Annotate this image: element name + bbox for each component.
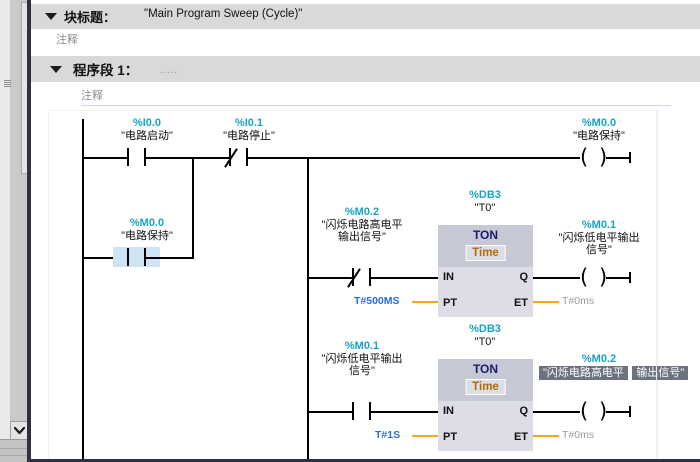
timer2-pt-value[interactable]: T#1S: [375, 429, 400, 441]
symbol-m02-line1: "闪烁电路高电平: [302, 219, 422, 232]
timer1-pin-et: ET: [514, 297, 528, 309]
address-coil-m02: %M0.2: [539, 353, 659, 366]
rung1-branch-wire-right: [146, 257, 193, 259]
rung1-wire-left: [82, 157, 127, 159]
rung3-wire-left: [307, 411, 352, 413]
address-db3-timer1: %DB3: [426, 189, 544, 202]
timer1-pt-value[interactable]: T#500MS: [354, 295, 400, 307]
address-coil-m00: %M0.0: [539, 117, 659, 130]
rung3-wire-q-out: [533, 411, 580, 413]
timer1-datatype: Time: [465, 245, 506, 261]
label-contact-seal-m00: %M0.0 "电路保持": [87, 217, 207, 242]
rung3-end-cap: [629, 406, 631, 417]
timer1-pin-in: IN: [443, 271, 454, 283]
address-db3-timer2: %DB3: [426, 323, 544, 336]
symbol-m01-line2: 信号": [302, 365, 422, 378]
left-chrome: [0, 0, 27, 462]
block-comment[interactable]: 注释: [56, 31, 78, 47]
timer-block-ton-2[interactable]: TON Time IN PT Q ET: [438, 359, 533, 451]
name-t0-timer1: "T0": [426, 202, 544, 215]
timer1-pin-q: Q: [519, 271, 528, 283]
timer-branch-rail: [307, 157, 309, 461]
label-coil-m01: %M0.1 "闪烁低电平输出 信号": [539, 219, 659, 257]
splitter-grip-icon[interactable]: [4, 80, 11, 87]
rung2-wire-to-timer: [371, 277, 438, 279]
symbol-seal-m00: "电路保持": [87, 230, 207, 243]
address-m02: %M0.2: [302, 206, 422, 219]
timer2-header: TON Time: [438, 359, 533, 401]
timer2-et-value: T#0ms: [562, 429, 594, 441]
label-coil-m02-selected[interactable]: %M0.2 "闪烁电路高电平 输出信号": [539, 353, 659, 380]
timer2-pin-in: IN: [443, 405, 454, 417]
rung3-wire-coil-out: [606, 411, 630, 413]
network-panel: 块标题： "Main Program Sweep (Cycle)" 注释 程序段…: [31, 0, 700, 462]
label-timer2-db: %DB3 "T0": [426, 323, 544, 348]
timer1-et-wire: [533, 301, 559, 303]
rung2-wire-coil-out: [606, 277, 630, 279]
ladder-canvas[interactable]: %I0.0 "电路启动" %I0.1 "电路停止" () %M0.0 "电路保持…: [48, 110, 658, 462]
name-t0-timer2: "T0": [426, 336, 544, 349]
rung2-wire-left: [307, 277, 352, 279]
timer2-pin-pt: PT: [443, 431, 457, 443]
timer1-et-value: T#0ms: [562, 295, 594, 307]
timer1-pin-pt: PT: [443, 297, 457, 309]
block-title-header[interactable]: [31, 4, 700, 29]
timer2-et-wire: [533, 435, 559, 437]
network-title-dots: .....: [160, 64, 178, 76]
timer1-header: TON Time: [438, 225, 533, 267]
address-coil-m01: %M0.1: [539, 219, 659, 232]
rung1-wire-right: [248, 157, 580, 159]
timer-block-ton-1[interactable]: TON Time IN PT Q ET: [438, 225, 533, 317]
symbol-coil-m02-line1: "闪烁电路高电平: [539, 366, 628, 381]
symbol-coil-m01-line1: "闪烁低电平输出: [539, 232, 659, 245]
block-title-label: 块标题：: [64, 7, 116, 26]
symbol-coil-m02-line2: 输出信号": [632, 366, 688, 381]
rung3-wire-to-timer: [371, 411, 438, 413]
label-coil-m00: %M0.0 "电路保持": [539, 117, 659, 142]
timer2-pin-et: ET: [514, 431, 528, 443]
symbol-i01: "电路停止": [189, 130, 309, 143]
network-comment-divider: [81, 105, 671, 106]
left-chrome-footer: [0, 439, 27, 462]
chevron-down-icon: [13, 425, 26, 436]
left-power-rail: [82, 119, 84, 461]
block-title-expander-icon[interactable]: [45, 13, 57, 20]
label-contact-stop-i01: %I0.1 "电路停止": [189, 117, 309, 142]
network-expander-icon[interactable]: [50, 66, 62, 73]
symbol-coil-m00: "电路保持": [539, 130, 659, 143]
timer1-pt-wire: [412, 301, 438, 303]
canvas-right-separator: [656, 110, 657, 462]
address-i01: %I0.1: [189, 117, 309, 130]
timer2-pin-q: Q: [519, 405, 528, 417]
block-title-value: "Main Program Sweep (Cycle)": [144, 8, 302, 20]
rung1-wire-mid: [146, 157, 229, 159]
network-comment[interactable]: 注释: [81, 87, 103, 103]
vertical-scrollbar-track[interactable]: [10, 0, 27, 430]
timer1-body: IN PT Q ET: [438, 267, 533, 317]
label-timer1-db: %DB3 "T0": [426, 189, 544, 214]
timer2-datatype: Time: [465, 379, 506, 395]
rung1-end-cap: [629, 152, 631, 163]
symbol-m01-line1: "闪烁低电平输出: [302, 353, 422, 366]
address-m01: %M0.1: [302, 340, 422, 353]
rung2-wire-q-out: [533, 277, 580, 279]
timer2-instruction: TON: [438, 362, 533, 376]
label-contact-m01: %M0.1 "闪烁低电平输出 信号": [302, 340, 422, 378]
label-contact-m02: %M0.2 "闪烁电路高电平 输出信号": [302, 206, 422, 244]
symbol-m02-line2: 输出信号": [302, 231, 422, 244]
address-seal-m00: %M0.0: [87, 217, 207, 230]
rung1-branch-vert-right: [192, 157, 194, 259]
rung2-end-cap: [629, 272, 631, 283]
symbol-coil-m01-line2: 信号": [539, 244, 659, 257]
timer2-pt-wire: [412, 435, 438, 437]
rung1-wire-coil-out: [606, 157, 630, 159]
lad-editor-window: 块标题： "Main Program Sweep (Cycle)" 注释 程序段…: [0, 0, 700, 462]
network-title-label: 程序段 1：: [73, 59, 138, 79]
timer2-body: IN PT Q ET: [438, 401, 533, 451]
timer1-instruction: TON: [438, 228, 533, 242]
